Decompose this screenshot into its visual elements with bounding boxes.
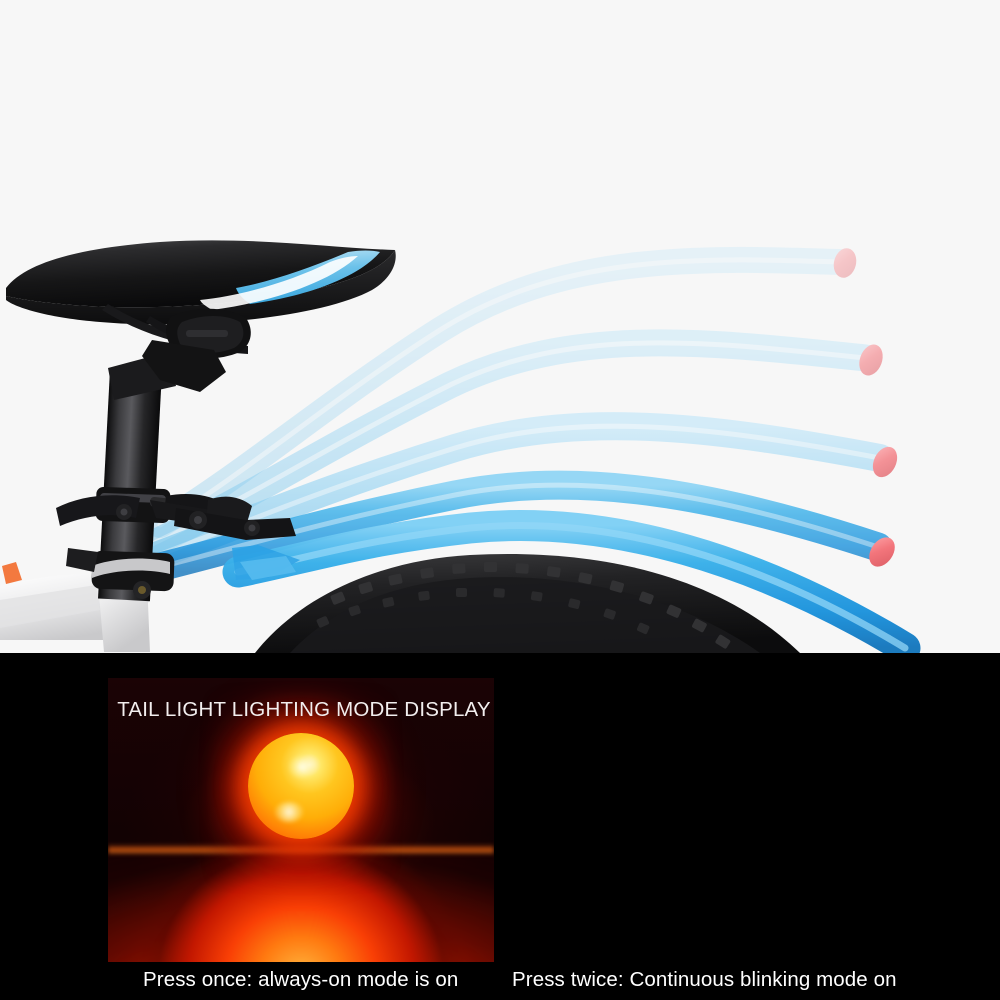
taillight-lamp-core: [248, 733, 354, 839]
product-marketing-image: QUICK RELEASE DESIGN: [0, 0, 1000, 1000]
taillight-demo-section: TAIL LIGHT LIGHTING MODE DISPLAY Press o…: [0, 653, 1000, 1000]
top-product-section: QUICK RELEASE DESIGN: [0, 0, 1000, 653]
taillight-photo-panel: TAIL LIGHT LIGHTING MODE DISPLAY: [108, 678, 494, 962]
caption-press-once: Press once: always-on mode is on: [143, 968, 458, 992]
mode-captions: Press once: always-on mode is on Press t…: [0, 962, 1000, 1000]
product-photo: [0, 0, 1000, 653]
taillight-hotspot-lower: [275, 802, 303, 822]
taillight-hotspot-upper: [289, 756, 315, 778]
caption-press-twice: Press twice: Continuous blinking mode on: [512, 968, 897, 992]
panel-label: TAIL LIGHT LIGHTING MODE DISPLAY: [114, 698, 494, 722]
